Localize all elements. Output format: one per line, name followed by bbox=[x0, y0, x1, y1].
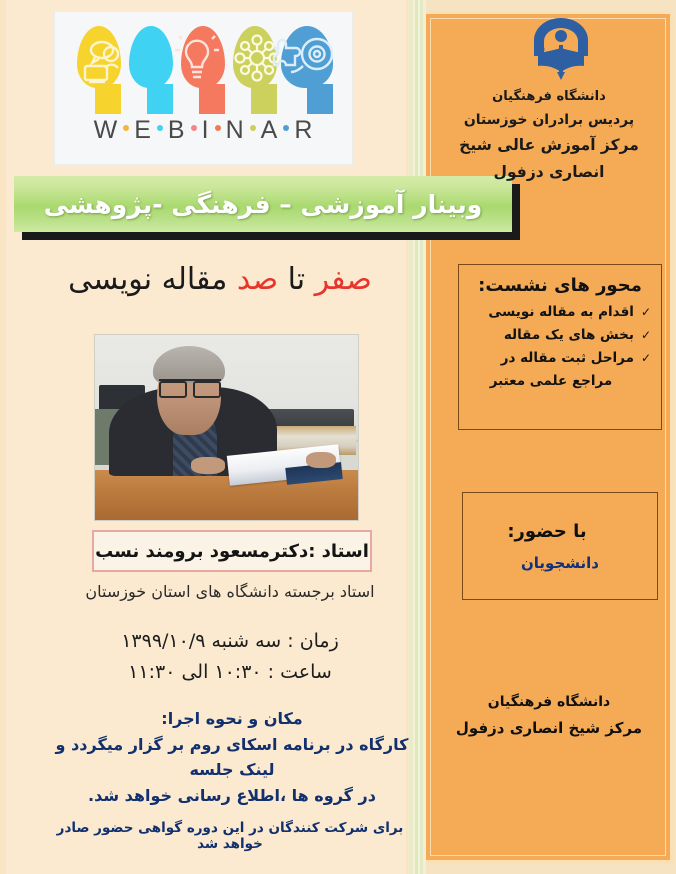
head-silhouettes-group bbox=[75, 24, 333, 114]
title-part-subject: مقاله نویسی bbox=[68, 262, 237, 297]
university-identity: دانشگاه فرهنگیان پردیس برادران خوزستان م… bbox=[436, 86, 662, 186]
title-part-hundred: صد bbox=[237, 262, 278, 297]
university-campus: پردیس برادران خوزستان bbox=[436, 108, 662, 132]
banner-text: وبینار آموزشی – فرهنگی -پژوهشی bbox=[44, 190, 483, 219]
schedule-time: ساعت : ۱۰:۳۰ الی ۱۱:۳۰ bbox=[60, 657, 400, 688]
page-title: صفر تا صد مقاله نویسی bbox=[40, 258, 400, 302]
title-part-to: تا bbox=[278, 262, 315, 297]
title-part-zero: صفر bbox=[315, 262, 372, 297]
sidebar-footer: دانشگاه فرهنگیان مرکز شیخ انصاری دزفول bbox=[442, 690, 656, 742]
topic-item: ✓ اقدام به مقاله نویسی bbox=[469, 304, 651, 320]
webinar-poster: WEBINAR وبینار آموزشی – فرهنگی -پژوهشی ص… bbox=[0, 0, 676, 874]
webinar-wordmark: WEBINAR bbox=[55, 116, 352, 145]
webinar-logo-card: WEBINAR bbox=[55, 12, 352, 164]
university-center: مرکز آموزش عالی شیخ انصاری دزفول bbox=[436, 132, 662, 185]
topic-item: ✓ مراحل ثبت مقاله در bbox=[469, 350, 651, 366]
attendance-value: دانشجویان bbox=[521, 554, 599, 572]
topics-title: محور های نشست: bbox=[469, 275, 651, 296]
footer-center-name: مرکز شیخ انصاری دزفول bbox=[442, 715, 656, 742]
check-icon: ✓ bbox=[641, 305, 651, 319]
check-icon: ✓ bbox=[641, 351, 651, 365]
schedule-date: زمان : سه شنبه ۱۳۹۹/۱۰/۹ bbox=[60, 626, 400, 657]
venue-line-2: در گروه ها ،اطلاع رسانی خواهد شد. bbox=[52, 783, 412, 809]
topic-label: مراحل ثبت مقاله در bbox=[501, 350, 634, 366]
farhangian-university-logo-icon bbox=[524, 14, 598, 82]
check-icon: ✓ bbox=[641, 328, 651, 342]
presenter-name-box: استاد :دکترمسعود برومند نسب bbox=[92, 530, 372, 572]
topic-item: ✓ بخش های یک مقاله bbox=[469, 327, 651, 343]
footer-university-name: دانشگاه فرهنگیان bbox=[442, 690, 656, 715]
venue-line-1: کارگاه در برنامه اسکای روم بر گزار میگرد… bbox=[52, 732, 412, 783]
topic-label: بخش های یک مقاله bbox=[504, 327, 634, 343]
topic-label-continuation: مراجع علمی معتبر bbox=[469, 373, 633, 389]
topics-box: محور های نشست: ✓ اقدام به مقاله نویسی ✓ … bbox=[458, 264, 662, 430]
venue-block: مکان و نحوه اجرا: کارگاه در برنامه اسکای… bbox=[52, 706, 412, 808]
speaker-photo bbox=[95, 335, 358, 520]
head-inner-icons bbox=[75, 24, 333, 114]
attendance-title: با حضور: bbox=[463, 521, 657, 542]
topic-label: اقدام به مقاله نویسی bbox=[488, 304, 634, 320]
venue-title: مکان و نحوه اجرا: bbox=[52, 706, 412, 732]
certificate-note: برای شرکت کنندگان در این دوره گواهی حضور… bbox=[40, 820, 420, 852]
presenter-affiliation: استاد برجسته دانشگاه های استان خوزستان bbox=[60, 582, 400, 601]
presenter-name: استاد :دکترمسعود برومند نسب bbox=[95, 541, 369, 562]
schedule-block: زمان : سه شنبه ۱۳۹۹/۱۰/۹ ساعت : ۱۰:۳۰ ال… bbox=[60, 626, 400, 689]
attendance-box: با حضور: دانشجویان bbox=[462, 492, 658, 600]
university-name: دانشگاه فرهنگیان bbox=[436, 86, 662, 108]
